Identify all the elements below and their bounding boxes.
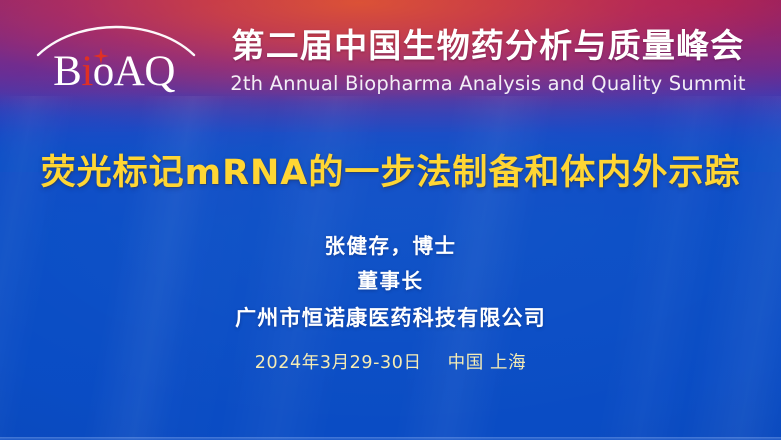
speaker-organization: 广州市恒诺康医药科技有限公司	[0, 299, 781, 337]
event-date: 2024年3月29-30日	[255, 353, 422, 373]
summit-title-chinese: 第二届中国生物药分析与质量峰会	[205, 24, 771, 68]
presentation-slide: BioAQ 第二届中国生物药分析与质量峰会 2th Annual Biophar…	[0, 0, 781, 440]
event-meta: 2024年3月29-30日中国 上海	[0, 350, 781, 376]
summit-branding: 第二届中国生物药分析与质量峰会 2th Annual Biopharma Ana…	[205, 24, 771, 97]
bioaq-logo-wordmark: BioAQ	[30, 47, 198, 97]
summit-title-english: 2th Annual Biopharma Analysis and Qualit…	[205, 71, 771, 97]
bioaq-logo: BioAQ	[30, 30, 198, 102]
event-location: 中国 上海	[448, 353, 527, 373]
logo-letter-i: i	[81, 48, 92, 95]
logo-letter-b: B	[53, 48, 81, 95]
slide-header-band: BioAQ 第二届中国生物药分析与质量峰会 2th Annual Biophar…	[0, 0, 781, 118]
speaker-info: 张健存，博士 董事长 广州市恒诺康医药科技有限公司	[0, 229, 781, 337]
speaker-role: 董事长	[0, 263, 781, 299]
sparkle-star-icon	[93, 48, 109, 64]
presentation-title: 荧光标记mRNA的一步法制备和体内外示踪	[0, 150, 781, 196]
speaker-name: 张健存，博士	[0, 229, 781, 263]
